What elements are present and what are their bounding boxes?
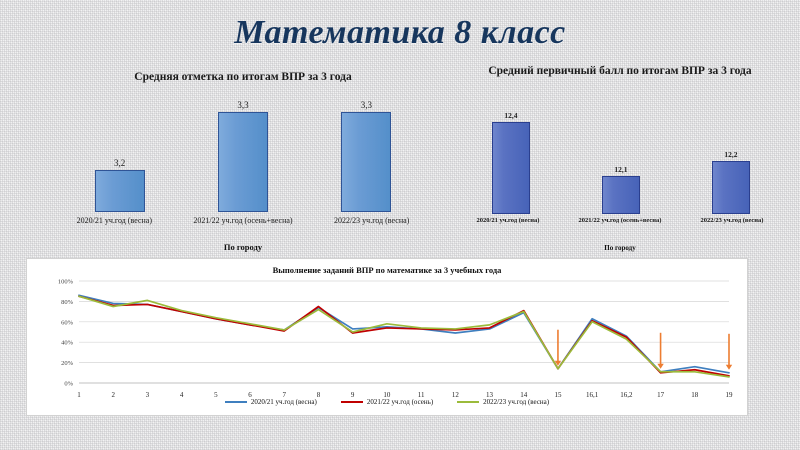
page-title: Математика 8 класс [0, 14, 800, 52]
left-bar-chart: Средняя отметка по итогам ВПР за 3 года … [48, 70, 438, 235]
y-axis-tick-label: 100% [58, 279, 74, 286]
legend-item[interactable]: 2021/22 уч.год (осень) [341, 398, 433, 406]
legend-label: 2021/22 уч.год (осень) [367, 398, 433, 406]
category-label: 2020/21 уч.год (весна) [53, 216, 177, 226]
annotation-arrow-icon [657, 333, 663, 369]
bar-column: 3,2 [59, 94, 181, 212]
line-chart-legend: 2020/21 уч.год (весна) 2021/22 уч.год (о… [27, 398, 747, 406]
right-chart-bars: 12,4 12,1 12,2 [456, 102, 786, 214]
bar-value-label: 3,3 [237, 100, 248, 110]
legend-swatch-icon [341, 401, 363, 403]
bar-value-label: 12,4 [504, 111, 517, 120]
bar-value-label: 3,3 [361, 100, 372, 110]
y-axis-tick-label: 40% [61, 340, 74, 347]
category-label: 2020/21 уч.год (весна) [454, 217, 562, 225]
line-chart-panel: Выполнение заданий ВПР по математике за … [26, 258, 748, 416]
line-chart-svg[interactable]: 0%20%40%60%80%100%1234567891011121314151… [27, 259, 747, 415]
left-chart-title: Средняя отметка по итогам ВПР за 3 года [48, 70, 438, 84]
bar-column: 12,4 [457, 102, 566, 214]
left-chart-category-labels: 2020/21 уч.год (весна) 2021/22 уч.год (о… [50, 216, 436, 226]
annotation-arrow-icon [726, 334, 732, 370]
category-label: 2021/22 уч.год (осень+весна) [181, 216, 305, 226]
bar-value-label: 12,1 [614, 165, 627, 174]
annotation-arrow-icon [555, 330, 561, 366]
right-bar-chart: Средний первичный балл по итогам ВПР за … [450, 64, 790, 234]
left-chart-axis-caption: По городу [48, 242, 438, 252]
y-axis-tick-label: 20% [61, 360, 74, 367]
right-chart-title: Средний первичный балл по итогам ВПР за … [450, 64, 790, 78]
right-chart-axis-caption: По городу [450, 244, 790, 252]
left-chart-bars: 3,2 3,3 3,3 [58, 94, 428, 212]
legend-swatch-icon [225, 401, 247, 403]
legend-item[interactable]: 2022/23 уч.год (весна) [457, 398, 549, 406]
bar-rect[interactable] [602, 176, 640, 214]
right-chart-category-labels: 2020/21 уч.год (весна) 2021/22 уч.год (о… [452, 217, 788, 225]
bar-rect[interactable] [218, 112, 268, 212]
y-axis-tick-label: 80% [61, 299, 74, 306]
bar-rect[interactable] [712, 161, 750, 214]
category-label: 2021/22 уч.год (осень+весна) [566, 217, 674, 225]
bar-column: 12,2 [677, 102, 786, 214]
legend-label: 2022/23 уч.год (весна) [483, 398, 549, 406]
bar-column: 3,3 [182, 94, 304, 212]
left-chart-plot: 3,2 3,3 3,3 [58, 94, 428, 212]
legend-item[interactable]: 2020/21 уч.год (весна) [225, 398, 317, 406]
bar-column: 12,1 [567, 102, 676, 214]
category-label: 2022/23 уч.год (весна) [310, 216, 434, 226]
legend-label: 2020/21 уч.год (весна) [251, 398, 317, 406]
bar-rect[interactable] [95, 170, 145, 212]
bar-rect[interactable] [492, 122, 530, 214]
bar-value-label: 3,2 [114, 158, 125, 168]
bar-rect[interactable] [341, 112, 391, 212]
legend-swatch-icon [457, 401, 479, 403]
bar-value-label: 12,2 [724, 150, 737, 159]
series-line[interactable] [79, 295, 729, 373]
series-line[interactable] [79, 296, 729, 377]
y-axis-tick-label: 60% [61, 319, 74, 326]
bar-column: 3,3 [305, 94, 427, 212]
right-chart-plot: 12,4 12,1 12,2 [456, 102, 786, 214]
y-axis-tick-label: 0% [64, 381, 73, 388]
category-label: 2022/23 уч.год (весна) [678, 217, 786, 225]
